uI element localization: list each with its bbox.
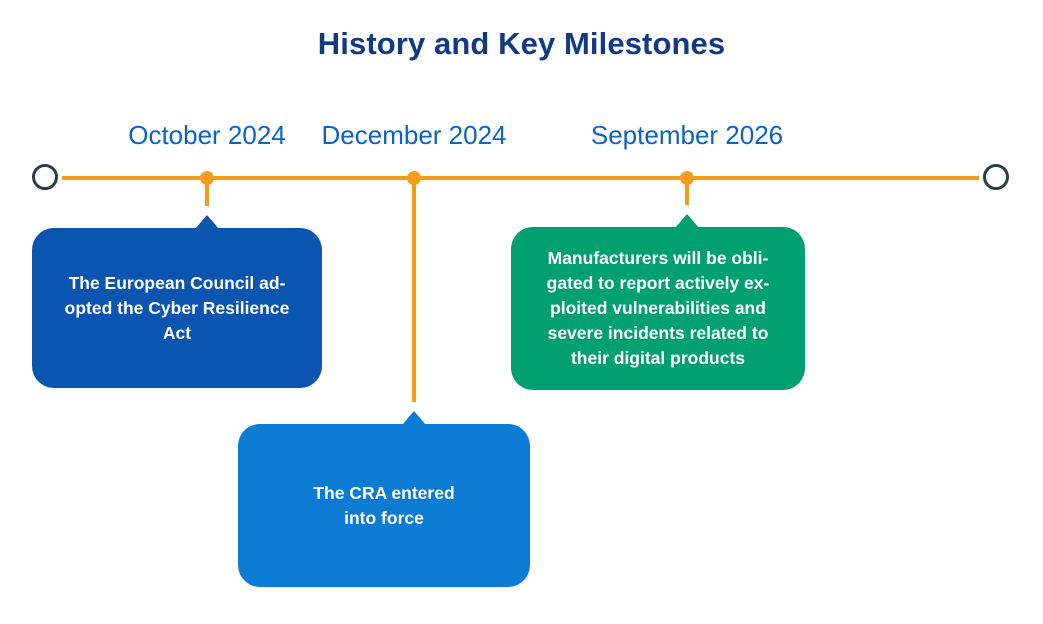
milestone-card-text: The CRA entered into force	[254, 481, 514, 531]
milestone-card[interactable]: The CRA entered into force	[238, 424, 530, 587]
milestone-date-label: September 2026	[591, 118, 783, 152]
milestone-card-text: Manufacturers will be obli- gated to rep…	[527, 246, 789, 371]
milestone-marker-dot-icon[interactable]	[200, 171, 214, 185]
milestone-connector	[412, 178, 416, 402]
milestone-date-label: October 2024	[128, 118, 286, 152]
milestone-card-text: The European Council ad- opted the Cyber…	[48, 271, 306, 346]
milestone-marker-dot-icon[interactable]	[680, 171, 694, 185]
milestone-card-pointer-icon	[402, 411, 426, 425]
milestone-card-pointer-icon	[195, 215, 219, 229]
timeline-start-circle-icon	[32, 164, 58, 190]
milestone-card[interactable]: The European Council ad- opted the Cyber…	[32, 228, 322, 388]
timeline-infographic: History and Key Milestones October 2024T…	[0, 0, 1043, 624]
milestone-date-label: December 2024	[322, 118, 507, 152]
milestone-marker-dot-icon[interactable]	[407, 171, 421, 185]
milestone-card-pointer-icon	[675, 214, 699, 228]
page-title: History and Key Milestones	[0, 24, 1043, 64]
milestone-card[interactable]: Manufacturers will be obli- gated to rep…	[511, 227, 805, 390]
timeline-end-circle-icon	[983, 164, 1009, 190]
